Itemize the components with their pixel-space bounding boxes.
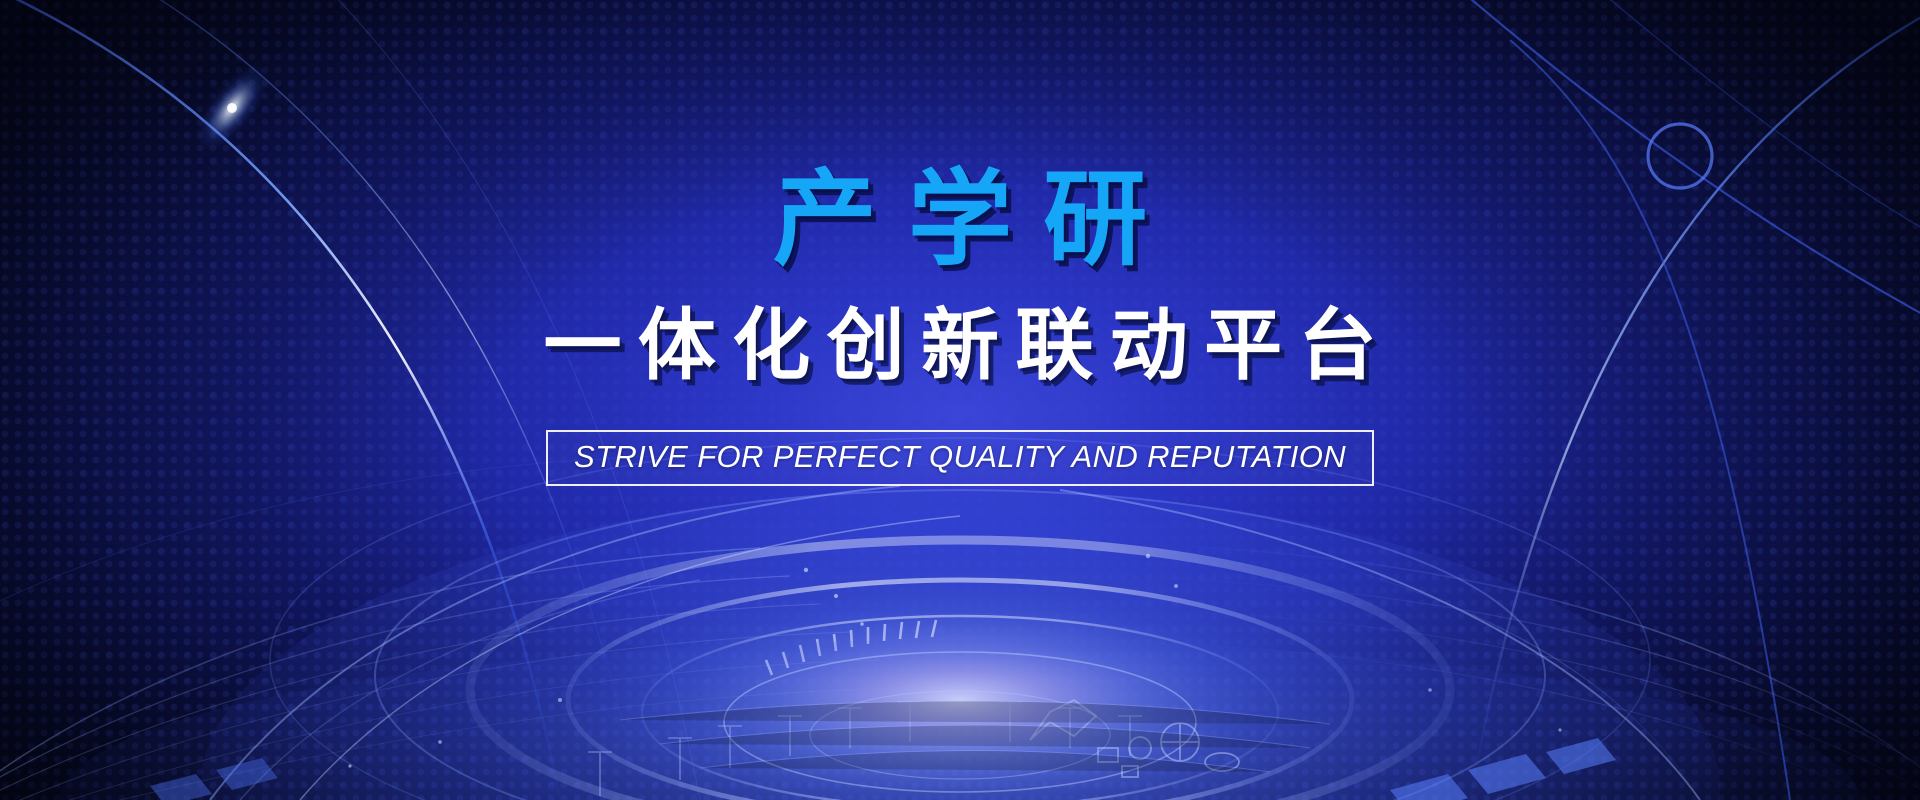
- tagline-text: STRIVE FOR PERFECT QUALITY AND REPUTATIO…: [574, 441, 1346, 472]
- page-title: 产学研: [742, 168, 1179, 272]
- page-subtitle: 一体化创新联动平台: [527, 306, 1393, 384]
- tagline-box: STRIVE FOR PERFECT QUALITY AND REPUTATIO…: [546, 430, 1374, 486]
- banner-content: 产学研 一体化创新联动平台 STRIVE FOR PERFECT QUALITY…: [0, 0, 1920, 800]
- tech-banner: 产学研 一体化创新联动平台 STRIVE FOR PERFECT QUALITY…: [0, 0, 1920, 800]
